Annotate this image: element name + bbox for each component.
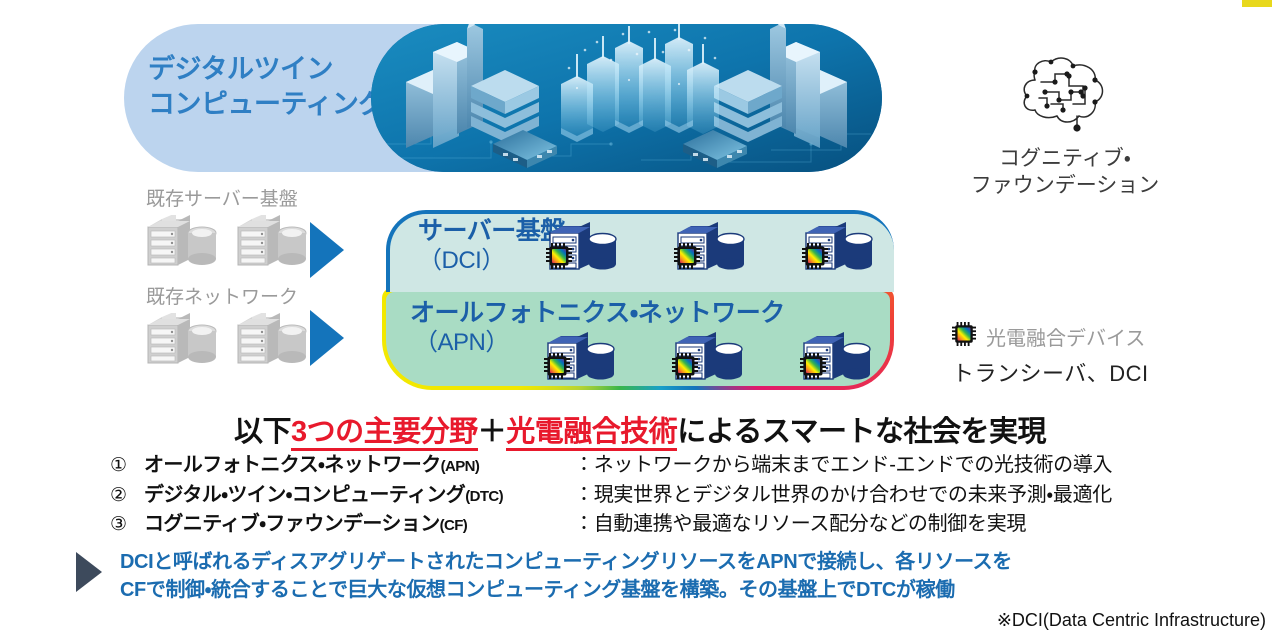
legacy-network-label: 既存ネットワーク: [146, 282, 310, 309]
photonics-electronics-chip-icon: [800, 353, 826, 384]
list-item: ③ コグニティブ・ファウンデーション(CF) ：自動連携や最適なリソース配分など…: [110, 511, 1270, 539]
headline-part1: 以下: [234, 416, 291, 448]
photonics-electronics-chip-icon: [952, 322, 976, 351]
cognitive-foundation-line1: コグニティブ・: [940, 146, 1190, 173]
footnote: ※DCI(Data Centric Infrastructure): [997, 610, 1266, 631]
summary-line2: CFで制御・統合することで巨大な仮想コンピューティング基盤を構築。その基盤上でD…: [120, 576, 1012, 604]
digital-twin-city-illustration: [371, 24, 882, 172]
key-domains-list: ① オールフォトニクス・ネットワーク(APN) ：ネットワークから端末までエンド…: [110, 452, 1270, 541]
list-item-name: オールフォトニクス・ネットワーク(APN): [144, 452, 574, 480]
list-item-name-text: オールフォトニクス・ネットワーク: [144, 454, 441, 476]
server-unit: [676, 222, 748, 272]
server-unit: [802, 332, 874, 382]
list-item-name: コグニティブ・ファウンデーション(CF): [144, 511, 574, 539]
legend-device-label: 光電融合デバイス: [986, 322, 1145, 351]
legacy-server-label: 既存サーバー基盤: [146, 184, 310, 211]
list-item: ② デジタル・ツイン・コンピューティング(DTC) ：現実世界とデジタル世界のか…: [110, 482, 1270, 510]
brain-circuit-icon: [940, 44, 1190, 140]
page-headline: 以下3つの主要分野＋光電融合技術によるスマートな社会を実現: [0, 408, 1280, 450]
list-item-description: ：ネットワークから端末までエンド-エンドでの光技術の導入: [574, 452, 1112, 480]
dci-panel-title: サーバー基盤: [418, 218, 565, 246]
cognitive-foundation-line2: ファウンデーション: [940, 173, 1190, 200]
summary-block: DCIと呼ばれるディスアグリゲートされたコンピューティングリソースをAPNで接続…: [76, 548, 1012, 605]
server-unit: [674, 332, 746, 382]
list-item-name-text: デジタル・ツイン・コンピューティング: [144, 484, 465, 506]
server-unit: [546, 332, 618, 382]
list-item-abbr: (CF): [440, 517, 468, 534]
summary-text: DCIと呼ばれるディスアグリゲートされたコンピューティングリソースをAPNで接続…: [120, 548, 1012, 605]
apn-panel-title: オールフォトニクス・ネットワーク: [410, 300, 785, 328]
corner-marker: [1242, 0, 1272, 7]
headline-part2: によるスマートな社会を実現: [677, 416, 1046, 448]
list-item-description: ：自動連携や最適なリソース配分などの制御を実現: [574, 511, 1026, 539]
server-unit: [548, 222, 620, 272]
transition-arrow-server: [310, 222, 344, 278]
summary-line1: DCIと呼ばれるディスアグリゲートされたコンピューティングリソースをAPNで接続…: [120, 548, 1012, 576]
summary-bullet-arrow: [76, 552, 102, 592]
dci-server-row: [548, 222, 876, 272]
legacy-network-icons: [146, 313, 310, 365]
list-item-abbr: (DTC): [465, 488, 503, 505]
list-item-description: ：現実世界とデジタル世界のかけ合わせでの未来予測・最適化: [574, 482, 1112, 510]
cognitive-foundation-block: コグニティブ・ ファウンデーション: [940, 44, 1190, 200]
server-unit: [804, 222, 876, 272]
legacy-server-group: 既存サーバー基盤: [146, 184, 310, 267]
photonics-electronics-chip-icon: [802, 243, 828, 274]
server-stack-icon-gray: [236, 313, 310, 365]
server-stack-icon-gray: [236, 215, 310, 267]
digital-twin-title: デジタルツイン コンピューティング: [148, 52, 388, 121]
photonics-electronics-chip-icon: [544, 353, 570, 384]
headline-highlight2: 光電融合技術: [506, 416, 677, 451]
list-item-name: デジタル・ツイン・コンピューティング(DTC): [144, 482, 574, 510]
digital-twin-title-line2: コンピューティング: [148, 87, 388, 122]
transition-arrow-network: [310, 310, 344, 366]
list-item: ① オールフォトニクス・ネットワーク(APN) ：ネットワークから端末までエンド…: [110, 452, 1270, 480]
list-item-number: ③: [110, 512, 144, 538]
digital-twin-title-line1: デジタルツイン: [148, 52, 388, 87]
list-item-number: ①: [110, 453, 144, 479]
device-legend: 光電融合デバイス トランシーバ、DCI: [952, 322, 1149, 388]
dci-panel-subtitle: （DCI）: [418, 248, 505, 274]
list-item-abbr: (APN): [441, 458, 480, 475]
apn-server-row: [546, 332, 874, 382]
server-stack-icon-gray: [146, 313, 220, 365]
list-item-number: ②: [110, 483, 144, 509]
legacy-server-icons: [146, 215, 310, 267]
slide-canvas: デジタルツイン コンピューティング: [0, 0, 1280, 642]
apn-panel-subtitle: （APN）: [414, 330, 509, 356]
photonics-electronics-chip-icon: [672, 353, 698, 384]
list-item-name-text: コグニティブ・ファウンデーション: [144, 513, 440, 535]
cognitive-foundation-label: コグニティブ・ ファウンデーション: [940, 146, 1190, 200]
photonics-electronics-chip-icon: [674, 243, 700, 274]
server-stack-icon-gray: [146, 215, 220, 267]
photonics-electronics-chip-icon: [546, 243, 572, 274]
legend-device-row: 光電融合デバイス: [952, 322, 1149, 351]
legend-device-types: トランシーバ、DCI: [952, 356, 1149, 388]
headline-highlight1: 3つの主要分野: [291, 416, 478, 451]
headline-plus: ＋: [478, 416, 507, 448]
legacy-network-group: 既存ネットワーク: [146, 282, 310, 365]
